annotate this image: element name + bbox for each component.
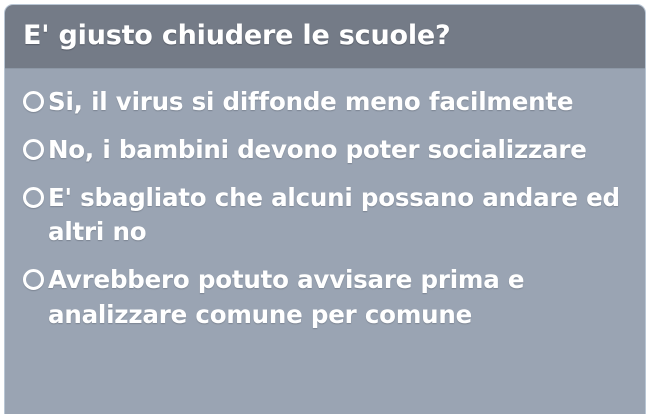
poll-option-label: E' sbagliato che alcuni possano andare e… xyxy=(46,181,635,251)
radio-button-icon[interactable] xyxy=(23,139,44,160)
poll-option-avvisare-prima[interactable]: Avrebbero potuto avvisare prima e analiz… xyxy=(23,263,635,333)
radio-button-icon[interactable] xyxy=(23,269,44,290)
poll-option-si-virus[interactable]: Si, il virus si diffonde meno facilmente xyxy=(23,85,635,120)
poll-option-no-socializzare[interactable]: No, i bambini devono poter socializzare xyxy=(23,133,635,168)
poll-option-label: Avrebbero potuto avvisare prima e analiz… xyxy=(46,263,635,333)
radio-button-icon[interactable] xyxy=(23,187,44,208)
poll-option-label: Si, il virus si diffonde meno facilmente xyxy=(46,85,573,120)
radio-button-icon[interactable] xyxy=(23,91,44,112)
poll-options-list: Si, il virus si diffonde meno facilmente… xyxy=(5,69,645,333)
poll-option-sbagliato-alcuni[interactable]: E' sbagliato che alcuni possano andare e… xyxy=(23,181,635,251)
poll-card: E' giusto chiudere le scuole? Si, il vir… xyxy=(4,4,646,414)
poll-header: E' giusto chiudere le scuole? xyxy=(5,5,645,69)
poll-question: E' giusto chiudere le scuole? xyxy=(23,22,450,50)
poll-option-label: No, i bambini devono poter socializzare xyxy=(46,133,587,168)
